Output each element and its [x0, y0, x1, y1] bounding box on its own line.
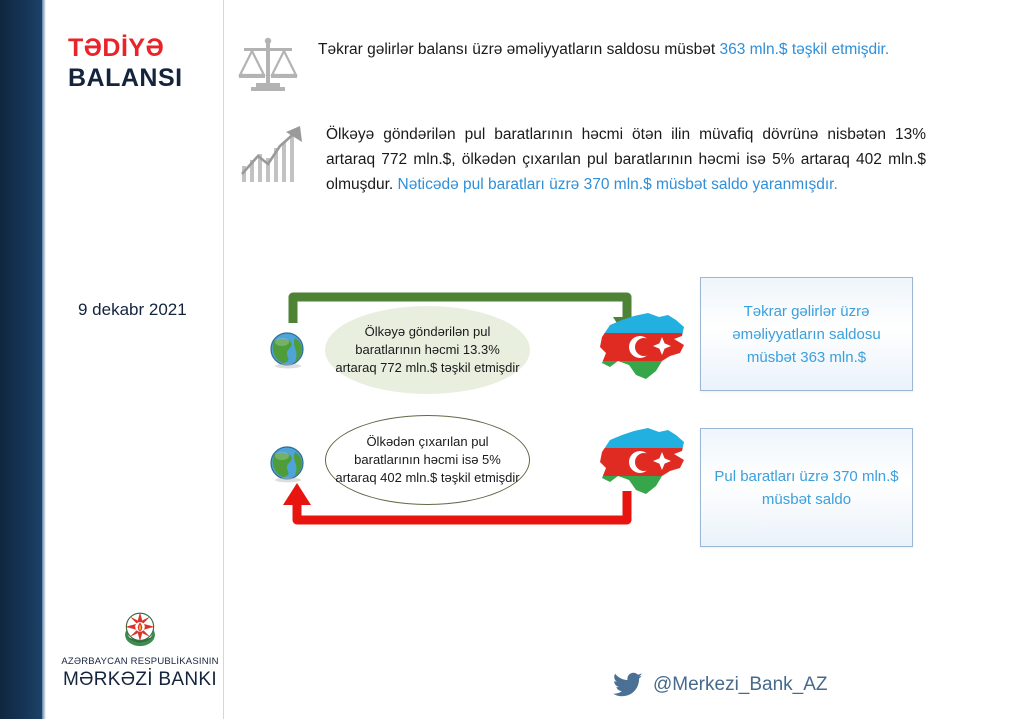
page-title: TƏDİYƏ BALANSI: [68, 33, 218, 93]
callout-inflow: Ölkəyə göndərilən pul baratlarının həcmi…: [325, 306, 530, 394]
globe-icon: [268, 443, 308, 483]
summary-text-income-balance: Təkrar gəlirlər balansı üzrə əməliyyatla…: [318, 33, 889, 62]
bank-logo-line-1: AZƏRBAYCAN RESPUBLİKASININ: [57, 655, 223, 668]
summary-text-plain: Təkrar gəlirlər balansı üzrə əməliyyatla…: [318, 41, 719, 58]
title-line-secondary: BALANSI: [68, 63, 218, 93]
twitter-handle-text: @Merkezi_Bank_AZ: [653, 674, 828, 696]
bank-logo-line-2: MƏRKƏZİ BANKI: [57, 668, 223, 692]
title-line-primary: TƏDİYƏ: [68, 33, 218, 63]
info-box-remittance-balance-text: Pul baratları üzrə 370 mln.$ müsbət sald…: [701, 465, 912, 511]
summary-row-remittances: Ölkəyə göndərilən pul baratlarının həcmi…: [236, 118, 926, 197]
twitter-bird-icon: [613, 672, 643, 698]
slide-canvas: TƏDİYƏ BALANSI 9 dekabr 2021: [0, 0, 1018, 719]
left-accent-band: [0, 0, 42, 719]
callout-outflow-text: Ölkədən çıxarılan pul baratlarının həcmi…: [326, 433, 529, 487]
azerbaijan-central-bank-emblem-icon: [118, 607, 162, 651]
azerbaijan-map-flag-icon: [596, 418, 688, 504]
slide-date: 9 dekabr 2021: [78, 300, 187, 320]
vertical-divider: [223, 0, 224, 719]
twitter-footer[interactable]: @Merkezi_Bank_AZ: [613, 672, 828, 698]
left-accent-band-edge: [42, 0, 46, 719]
balance-scales-icon: [236, 33, 300, 97]
summary-text-highlight: Nəticədə pul baratları üzrə 370 mln.$ mü…: [398, 176, 838, 193]
summary-row-income-balance: Təkrar gəlirlər balansı üzrə əməliyyatla…: [236, 33, 926, 97]
info-box-income-balance: Təkrar gəlirlər üzrə əməliyyatların sald…: [700, 277, 913, 391]
bank-logo: AZƏRBAYCAN RESPUBLİKASININ MƏRKƏZİ BANKI: [57, 607, 223, 692]
globe-icon: [268, 329, 308, 369]
summary-text-remittances: Ölkəyə göndərilən pul baratlarının həcmi…: [326, 118, 926, 197]
summary-text-highlight: 363 mln.$ təşkil etmişdir.: [719, 41, 889, 58]
info-box-income-balance-text: Təkrar gəlirlər üzrə əməliyyatların sald…: [701, 300, 912, 369]
callout-inflow-text: Ölkəyə göndərilən pul baratlarının həcmi…: [325, 323, 530, 377]
callout-outflow: Ölkədən çıxarılan pul baratlarının həcmi…: [325, 415, 530, 505]
growth-chart-icon: [236, 118, 308, 188]
info-box-remittance-balance: Pul baratları üzrə 370 mln.$ müsbət sald…: [700, 428, 913, 547]
azerbaijan-map-flag-icon: [596, 303, 688, 389]
